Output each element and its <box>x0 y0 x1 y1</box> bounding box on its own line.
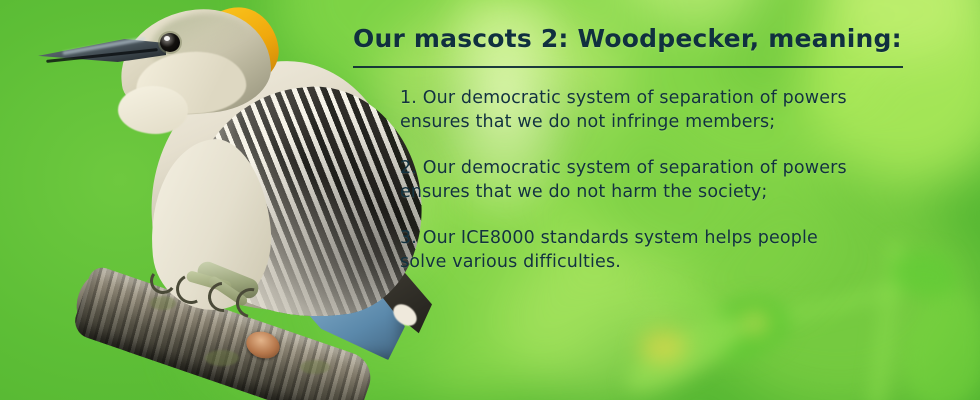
lichen-patch <box>205 350 239 366</box>
meaning-item-3: 3. Our ICE8000 standards system helps pe… <box>400 226 916 274</box>
meaning-list: 1. Our democratic system of separation o… <box>400 86 916 274</box>
meaning-item-1-line-1: 1. Our democratic system of separation o… <box>400 86 916 110</box>
eye-glint <box>164 36 170 41</box>
heading-divider-rule <box>353 66 903 68</box>
mascot-banner: Our mascots 2: Woodpecker, meaning: 1. O… <box>0 0 980 400</box>
banner-heading: Our mascots 2: Woodpecker, meaning: <box>353 24 902 53</box>
lichen-patch <box>150 296 176 310</box>
meaning-item-1: 1. Our democratic system of separation o… <box>400 86 916 134</box>
banner-text-panel: Our mascots 2: Woodpecker, meaning: 1. O… <box>353 0 913 400</box>
bird-throat <box>118 86 188 134</box>
meaning-item-2-line-2: ensures that we do not harm the society; <box>400 180 916 204</box>
meaning-item-2-line-1: 2. Our democratic system of separation o… <box>400 156 916 180</box>
meaning-item-3-line-1: 3. Our ICE8000 standards system helps pe… <box>400 226 916 250</box>
bird-eye <box>160 33 180 52</box>
meaning-item-3-line-2: solve various difficulties. <box>400 250 916 274</box>
woodpecker-photo <box>0 0 350 400</box>
meaning-item-2: 2. Our democratic system of separation o… <box>400 156 916 204</box>
meaning-item-1-line-2: ensures that we do not infringe members; <box>400 110 916 134</box>
lichen-patch <box>300 360 330 374</box>
